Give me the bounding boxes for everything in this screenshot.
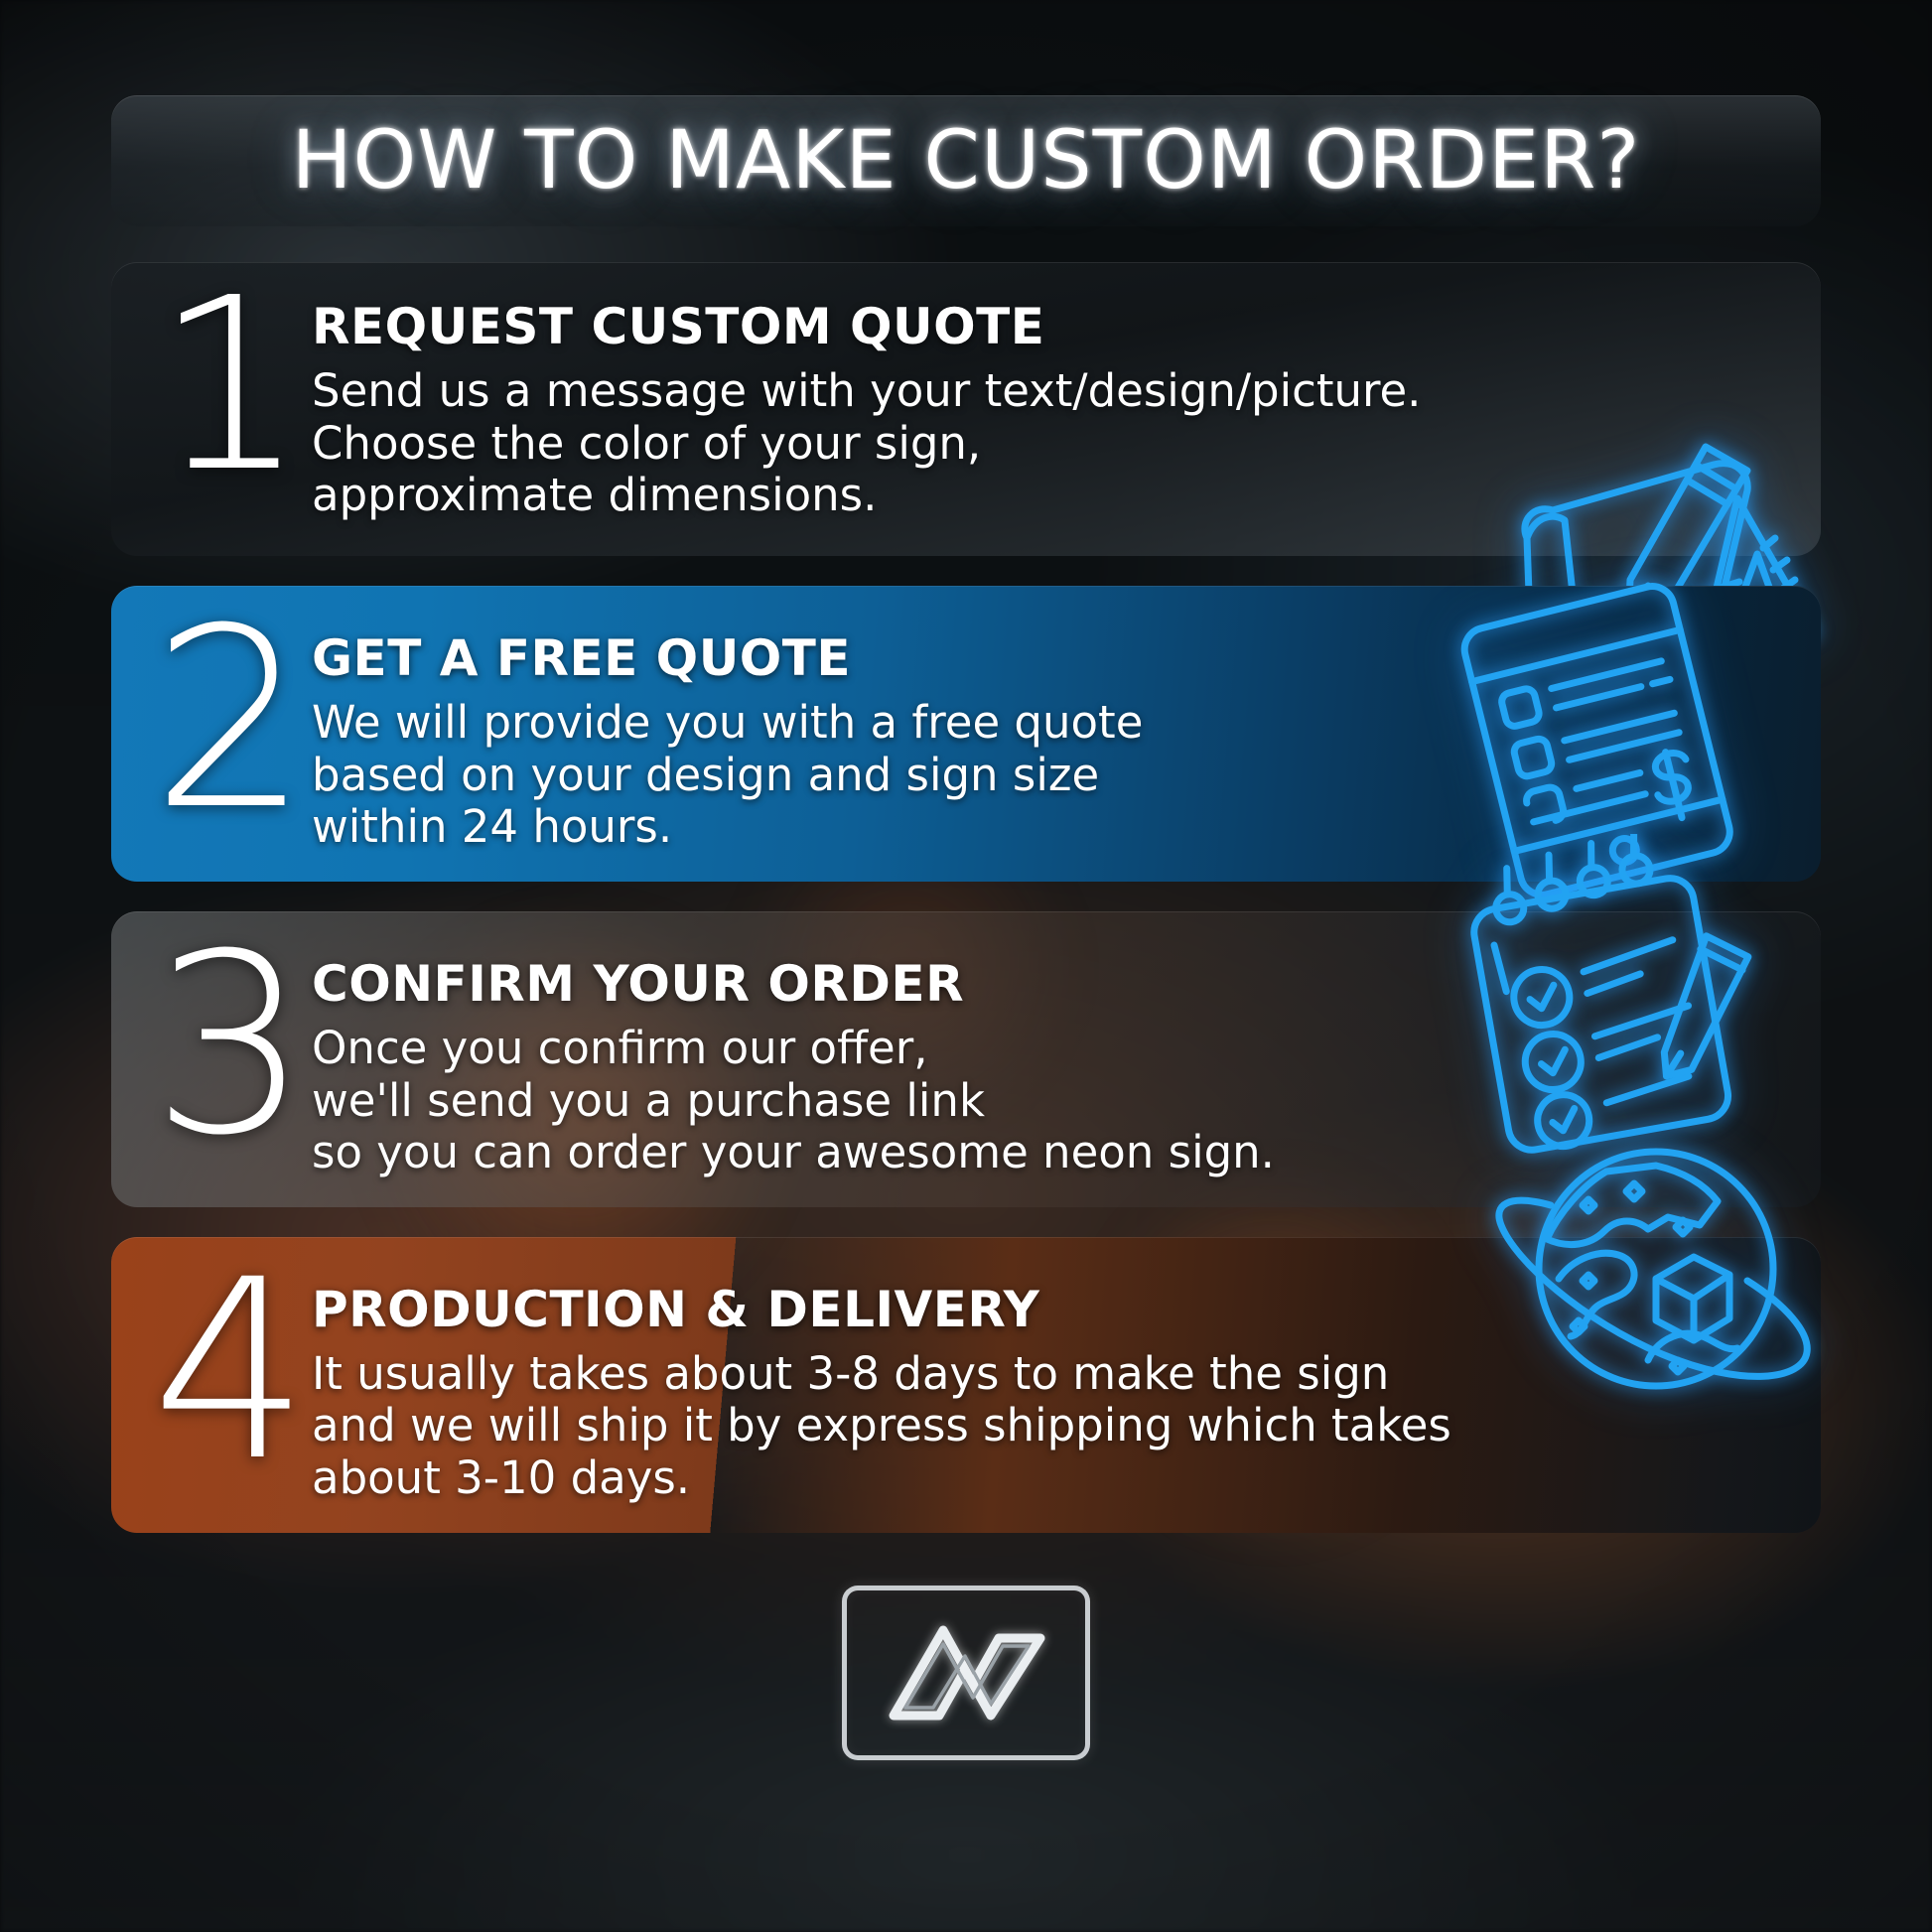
infographic-canvas: HOW TO MAKE CUSTOM ORDER? 1 REQUEST CUST… (0, 0, 1932, 1932)
step-line: within 24 hours. (312, 801, 1787, 854)
step-body-4: PRODUCTION & DELIVERY It usually takes a… (312, 1263, 1787, 1505)
step-description-4: It usually takes about 3-8 days to make … (312, 1348, 1787, 1505)
step-card-2: 2 GET A FREE QUOTE We will provide you w… (111, 586, 1821, 882)
step-line: we'll send you a purchase link (312, 1075, 1787, 1128)
step-line: about 3-10 days. (312, 1452, 1787, 1505)
step-number-2: 2 (145, 606, 312, 834)
content-column: HOW TO MAKE CUSTOM ORDER? 1 REQUEST CUST… (0, 0, 1932, 1932)
step-card-4: 4 PRODUCTION & DELIVERY It usually takes… (111, 1237, 1821, 1533)
step-line: Once you confirm our offer, (312, 1023, 1787, 1075)
step-line: Choose the color of your sign, (312, 418, 1787, 471)
step-description-3: Once you confirm our offer, we'll send y… (312, 1023, 1787, 1179)
step-number-4: 4 (145, 1257, 312, 1485)
step-number-3: 3 (145, 931, 312, 1160)
page-title: HOW TO MAKE CUSTOM ORDER? (292, 114, 1641, 207)
step-body-3: CONFIRM YOUR ORDER Once you confirm our … (312, 937, 1787, 1179)
step-card-1: 1 REQUEST CUSTOM QUOTE Send us a message… (111, 262, 1821, 556)
ln-monogram-logo (842, 1586, 1090, 1760)
step-body-2: GET A FREE QUOTE We will provide you wit… (312, 612, 1787, 854)
step-title-4: PRODUCTION & DELIVERY (312, 1281, 1787, 1338)
step-title-1: REQUEST CUSTOM QUOTE (312, 298, 1787, 355)
step-title-2: GET A FREE QUOTE (312, 629, 1787, 687)
title-card: HOW TO MAKE CUSTOM ORDER? (111, 95, 1821, 226)
step-line: It usually takes about 3-8 days to make … (312, 1348, 1787, 1401)
step-number-1: 1 (145, 276, 312, 495)
step-card-3: 3 CONFIRM YOUR ORDER Once you confirm ou… (111, 911, 1821, 1207)
step-title-3: CONFIRM YOUR ORDER (312, 955, 1787, 1013)
step-description-2: We will provide you with a free quote ba… (312, 697, 1787, 854)
step-line: so you can order your awesome neon sign. (312, 1127, 1787, 1179)
step-line: and we will ship it by express shipping … (312, 1400, 1787, 1452)
step-line: We will provide you with a free quote (312, 697, 1787, 750)
step-description-1: Send us a message with your text/design/… (312, 365, 1787, 522)
step-line: based on your design and sign size (312, 750, 1787, 802)
step-line: approximate dimensions. (312, 470, 1787, 522)
footer (111, 1579, 1821, 1767)
step-line: Send us a message with your text/design/… (312, 365, 1787, 418)
step-body-1: REQUEST CUSTOM QUOTE Send us a message w… (312, 288, 1787, 522)
